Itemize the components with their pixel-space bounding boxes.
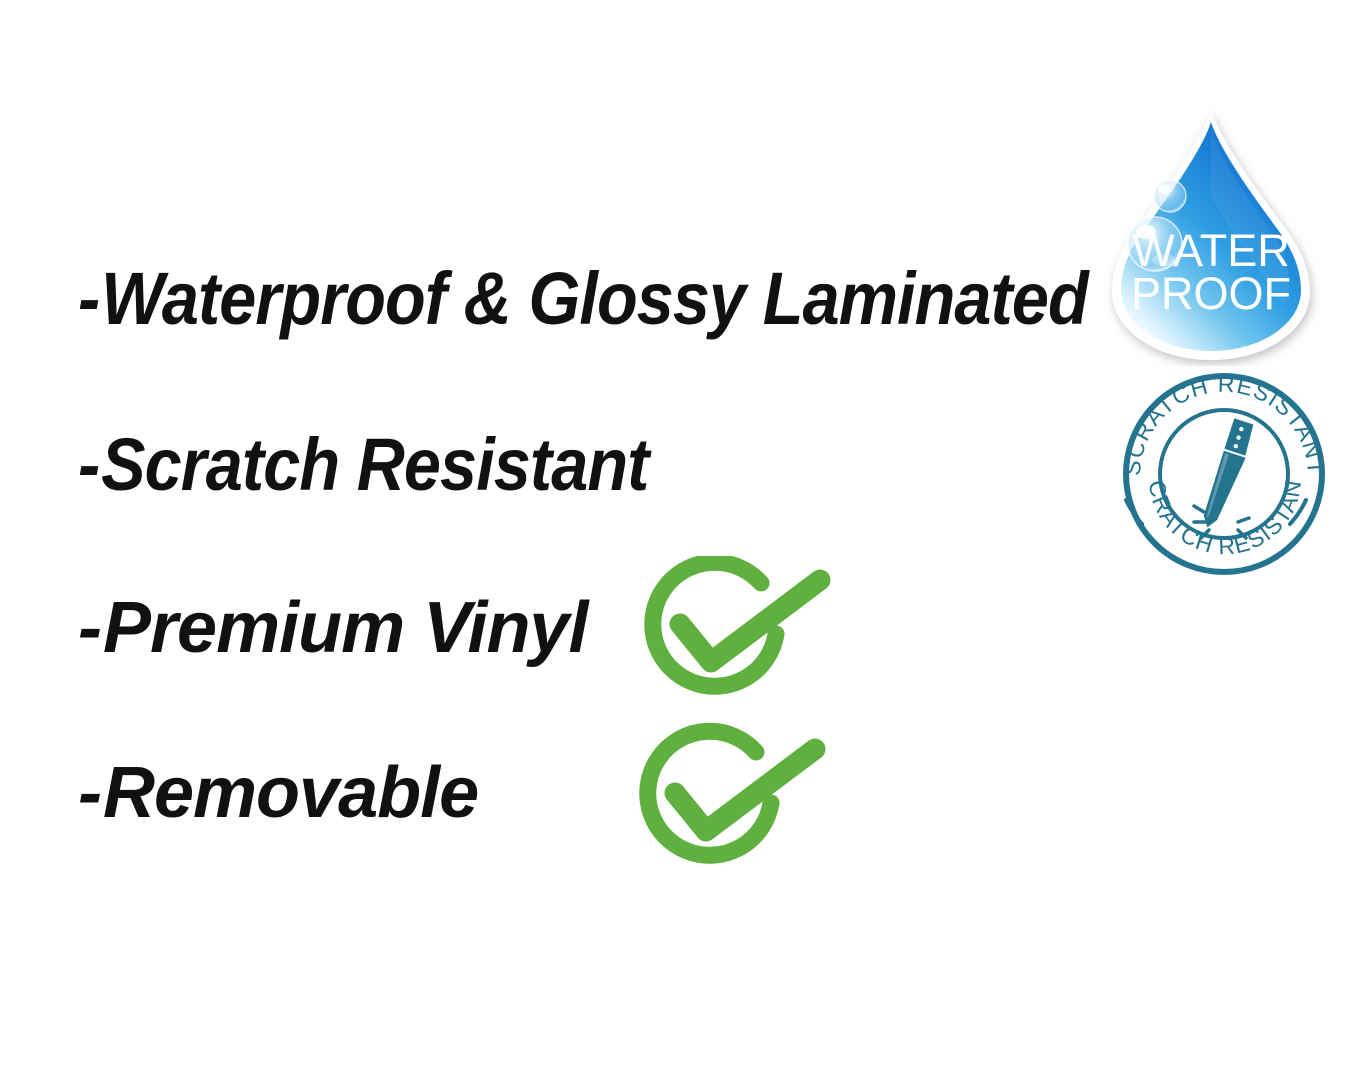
feature-bullet-dash: - xyxy=(78,428,99,502)
waterproof-label-line2: PROOF xyxy=(1131,268,1291,319)
feature-bullet-dash: - xyxy=(78,592,101,664)
feature-list: -Waterproof & Glossy Laminated -Scratch … xyxy=(0,0,1100,1080)
feature-label: Scratch Resistant xyxy=(101,423,648,506)
feature-item-removable: -Removable xyxy=(78,757,478,829)
knife-icon xyxy=(1200,418,1256,532)
check-circle-icon-removable xyxy=(635,720,831,886)
feature-bullet-dash: - xyxy=(78,757,101,829)
feature-label: Removable xyxy=(103,753,478,833)
feature-item-scratch-resistant: -Scratch Resistant xyxy=(78,428,648,502)
feature-item-waterproof-glossy-laminated: -Waterproof & Glossy Laminated xyxy=(78,262,1088,336)
scratch-resistant-badge: SCRATCH RESISTANT SCRATCH RESISTANT xyxy=(1112,372,1342,576)
check-circle-icon-premium-vinyl xyxy=(640,556,836,712)
feature-label: Waterproof & Glossy Laminated xyxy=(101,257,1088,340)
waterproof-badge: WATER PROOF xyxy=(1092,104,1330,366)
product-feature-graphic: -Waterproof & Glossy Laminated -Scratch … xyxy=(0,0,1359,1080)
feature-label: Premium Vinyl xyxy=(103,588,588,668)
feature-item-premium-vinyl: -Premium Vinyl xyxy=(78,592,587,664)
feature-bullet-dash: - xyxy=(78,262,99,336)
